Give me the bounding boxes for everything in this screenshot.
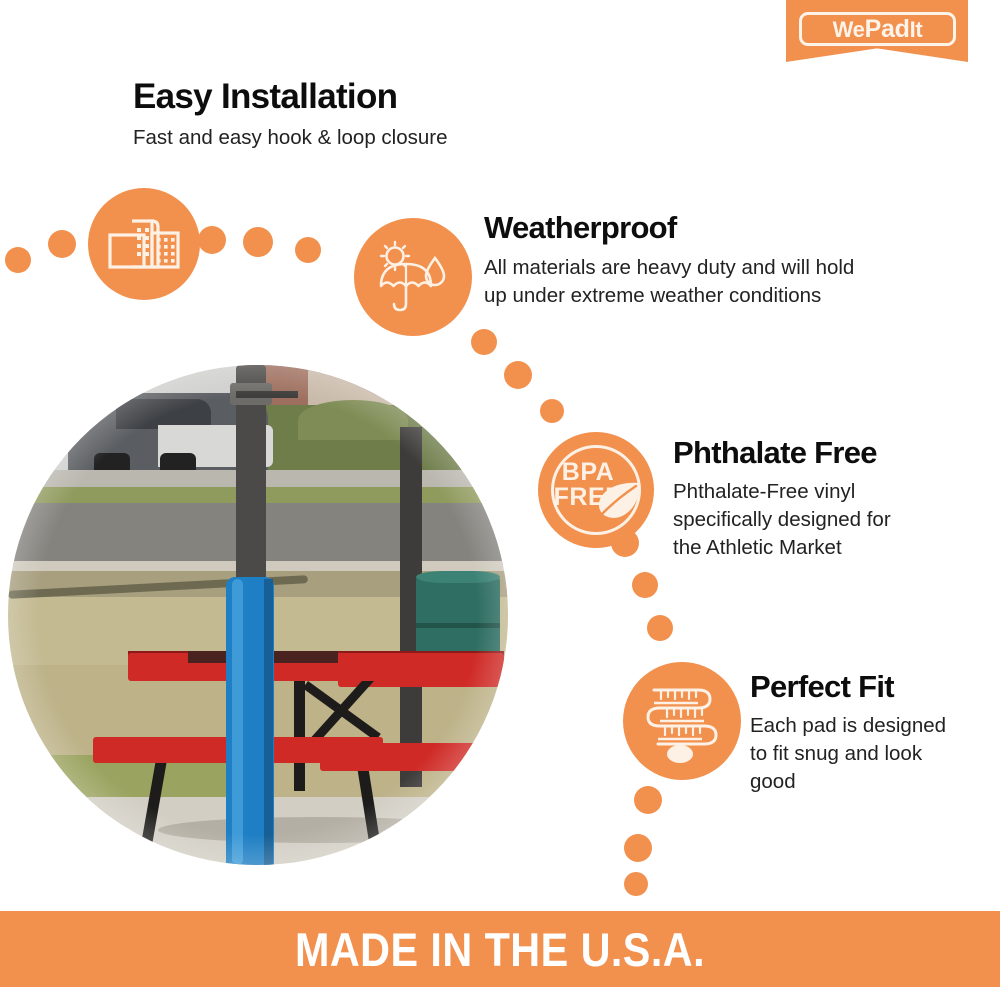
feature-title: Perfect Fit (750, 671, 1000, 704)
building-icon (88, 188, 200, 300)
feature-subtitle: Each pad is designed to fit snug and loo… (750, 712, 1000, 796)
path-dot (632, 572, 658, 598)
feature-subtitle: All materials are heavy duty and will ho… (484, 254, 914, 310)
umbrella-sun-raindrop-icon (354, 218, 472, 336)
feature-weatherproof: Weatherproof All materials are heavy dut… (484, 212, 914, 310)
leaf-icon (596, 480, 642, 522)
path-dot (540, 399, 564, 423)
path-dot (504, 361, 532, 389)
made-in-usa-banner: MADE IN THE U.S.A. (0, 911, 1000, 987)
feature-perfect-fit: Perfect Fit Each pad is designed to fit … (750, 671, 1000, 795)
brand-logo-frame: WePadIt (799, 12, 956, 46)
logo-part-we: We (833, 17, 865, 42)
path-dot (295, 237, 321, 263)
feature-easy-installation: Easy Installation Fast and easy hook & l… (133, 78, 613, 152)
feature-title: Easy Installation (133, 78, 613, 115)
infographic-page: WePadIt Easy Installation Fast and easy … (0, 0, 1000, 987)
path-dot (48, 230, 76, 258)
made-in-usa-text: MADE IN THE U.S.A. (295, 922, 705, 977)
logo-part-pad: Pad (865, 15, 910, 43)
brand-logo-text: WePadIt (833, 17, 923, 42)
feature-subtitle: Fast and easy hook & loop closure (133, 124, 613, 152)
photo-edge-fade (8, 365, 508, 865)
feature-title: Phthalate Free (673, 437, 983, 470)
bpa-free-leaf-icon: BPA FREE (538, 432, 654, 548)
path-dot (634, 786, 662, 814)
path-dot (198, 226, 226, 254)
feature-phthalate-free: Phthalate Free Phthalate-Free vinyl spec… (673, 437, 983, 561)
path-dot (471, 329, 497, 355)
logo-part-it: It (910, 17, 923, 42)
product-photo (8, 365, 508, 865)
path-dot (647, 615, 673, 641)
path-dot (624, 872, 648, 896)
feature-subtitle: Phthalate-Free vinyl specifically design… (673, 478, 983, 562)
feature-title: Weatherproof (484, 212, 914, 245)
path-dot (5, 247, 31, 273)
measuring-tape-icon (623, 662, 741, 780)
path-dot (243, 227, 273, 257)
path-dot (624, 834, 652, 862)
